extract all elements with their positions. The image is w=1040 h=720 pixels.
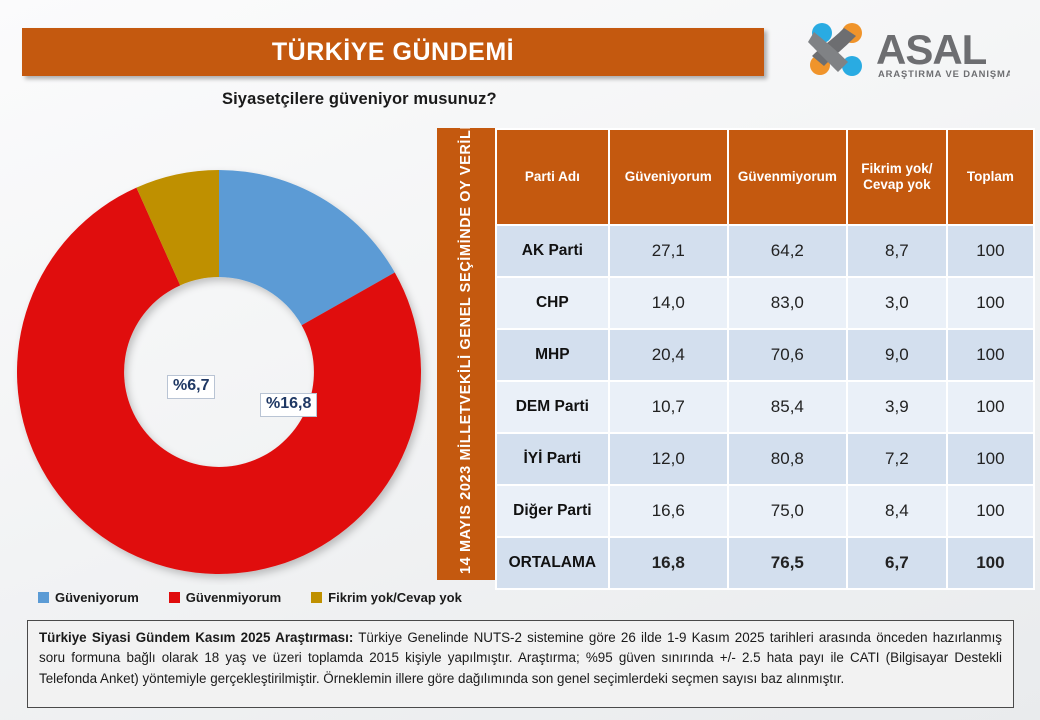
logo-mark-icon bbox=[808, 23, 862, 76]
column-header-parti-adi: Parti Adı bbox=[497, 130, 608, 224]
cell-fikrim-yok: 7,2 bbox=[848, 434, 946, 484]
cell-toplam: 100 bbox=[948, 330, 1033, 380]
cell-toplam: 100 bbox=[948, 486, 1033, 536]
cell-toplam: 100 bbox=[948, 434, 1033, 484]
cell-toplam: 100 bbox=[948, 382, 1033, 432]
legend-swatch-icon bbox=[169, 592, 180, 603]
cell-party: MHP bbox=[497, 330, 608, 380]
cell-party: Diğer Parti bbox=[497, 486, 608, 536]
cell-party: DEM Parti bbox=[497, 382, 608, 432]
legend-label: Fikrim yok/Cevap yok bbox=[328, 590, 462, 605]
cell-party: AK Parti bbox=[497, 226, 608, 276]
logo-wordmark: ASAL bbox=[876, 26, 987, 73]
cell-party: İYİ Parti bbox=[497, 434, 608, 484]
logo-tagline: ARAŞTIRMA VE DANIŞMANLIK bbox=[878, 68, 1010, 79]
cell-toplam: 100 bbox=[948, 538, 1033, 588]
cell-guveniyorum: 16,6 bbox=[610, 486, 727, 536]
table-row-total: ORTALAMA16,876,56,7100 bbox=[497, 538, 1033, 588]
table-vertical-label: 14 MAYIS 2023 MİLLETVEKİLİ GENEL SEÇİMİN… bbox=[437, 128, 495, 580]
cell-fikrim-yok: 8,4 bbox=[848, 486, 946, 536]
cell-toplam: 100 bbox=[948, 278, 1033, 328]
chart-legend: GüveniyorumGüvenmiyorumFikrim yok/Cevap … bbox=[38, 590, 462, 605]
donut-slices bbox=[17, 170, 421, 574]
column-header-toplam: Toplam bbox=[948, 130, 1033, 224]
distribution-table-block: 14 MAYIS 2023 MİLLETVEKİLİ GENEL SEÇİMİN… bbox=[437, 128, 1035, 580]
table-head: Parti Adı Güveniyorum Güvenmiyorum Fikri… bbox=[497, 130, 1033, 224]
slice-label-guveniyorum: %16,8 bbox=[260, 393, 317, 417]
legend-label: Güveniyorum bbox=[55, 590, 139, 605]
legend-item-1[interactable]: Güvenmiyorum bbox=[169, 590, 281, 605]
header-banner: TÜRKİYE GÜNDEMİ bbox=[22, 28, 764, 76]
cell-guveniyorum: 12,0 bbox=[610, 434, 727, 484]
cell-fikrim-yok: 8,7 bbox=[848, 226, 946, 276]
slice-label-fikrim-yok: %6,7 bbox=[167, 375, 215, 399]
cell-guvenmiyorum: 70,6 bbox=[729, 330, 846, 380]
cell-guvenmiyorum: 83,0 bbox=[729, 278, 846, 328]
table-row: CHP14,083,03,0100 bbox=[497, 278, 1033, 328]
table-header-row: Parti Adı Güveniyorum Güvenmiyorum Fikri… bbox=[497, 130, 1033, 224]
cell-toplam: 100 bbox=[948, 226, 1033, 276]
page-title: TÜRKİYE GÜNDEMİ bbox=[272, 38, 514, 67]
cell-guvenmiyorum: 85,4 bbox=[729, 382, 846, 432]
cell-fikrim-yok: 9,0 bbox=[848, 330, 946, 380]
column-header-fikrim-yok: Fikrim yok/ Cevap yok bbox=[848, 130, 946, 224]
cell-guveniyorum: 27,1 bbox=[610, 226, 727, 276]
column-header-guveniyorum: Güveniyorum bbox=[610, 130, 727, 224]
cell-fikrim-yok: 3,9 bbox=[848, 382, 946, 432]
cell-party: ORTALAMA bbox=[497, 538, 608, 588]
cell-fikrim-yok: 6,7 bbox=[848, 538, 946, 588]
table-body: AK Parti27,164,28,7100CHP14,083,03,0100M… bbox=[497, 226, 1033, 588]
table-row: Diğer Parti16,675,08,4100 bbox=[497, 486, 1033, 536]
table-row: AK Parti27,164,28,7100 bbox=[497, 226, 1033, 276]
legend-swatch-icon bbox=[38, 592, 49, 603]
donut-chart: %16,8 %76,5 %6,7 bbox=[5, 160, 433, 585]
table-row: DEM Parti10,785,43,9100 bbox=[497, 382, 1033, 432]
cell-guvenmiyorum: 76,5 bbox=[729, 538, 846, 588]
table-row: İYİ Parti12,080,87,2100 bbox=[497, 434, 1033, 484]
methodology-footnote: Türkiye Siyasi Gündem Kasım 2025 Araştır… bbox=[27, 620, 1014, 708]
asal-logo-svg: ASAL ARAŞTIRMA VE DANIŞMANLIK bbox=[800, 20, 1010, 82]
cell-guveniyorum: 10,7 bbox=[610, 382, 727, 432]
distribution-table: Parti Adı Güveniyorum Güvenmiyorum Fikri… bbox=[495, 128, 1035, 590]
column-header-guvenmiyorum: Güvenmiyorum bbox=[729, 130, 846, 224]
cell-guvenmiyorum: 64,2 bbox=[729, 226, 846, 276]
legend-item-2[interactable]: Fikrim yok/Cevap yok bbox=[311, 590, 462, 605]
cell-guvenmiyorum: 75,0 bbox=[729, 486, 846, 536]
donut-chart-svg bbox=[5, 160, 433, 585]
asal-logo: ASAL ARAŞTIRMA VE DANIŞMANLIK bbox=[800, 20, 1010, 82]
legend-swatch-icon bbox=[311, 592, 322, 603]
cell-fikrim-yok: 3,0 bbox=[848, 278, 946, 328]
table-row: MHP20,470,69,0100 bbox=[497, 330, 1033, 380]
table-vertical-label-text: 14 MAYIS 2023 MİLLETVEKİLİ GENEL SEÇİMİN… bbox=[458, 134, 474, 574]
survey-question: Siyasetçilere güveniyor musunuz? bbox=[222, 90, 497, 109]
cell-party: CHP bbox=[497, 278, 608, 328]
cell-guveniyorum: 14,0 bbox=[610, 278, 727, 328]
legend-label: Güvenmiyorum bbox=[186, 590, 281, 605]
footnote-lead: Türkiye Siyasi Gündem Kasım 2025 Araştır… bbox=[39, 630, 353, 645]
cell-guveniyorum: 16,8 bbox=[610, 538, 727, 588]
legend-item-0[interactable]: Güveniyorum bbox=[38, 590, 139, 605]
cell-guveniyorum: 20,4 bbox=[610, 330, 727, 380]
cell-guvenmiyorum: 80,8 bbox=[729, 434, 846, 484]
